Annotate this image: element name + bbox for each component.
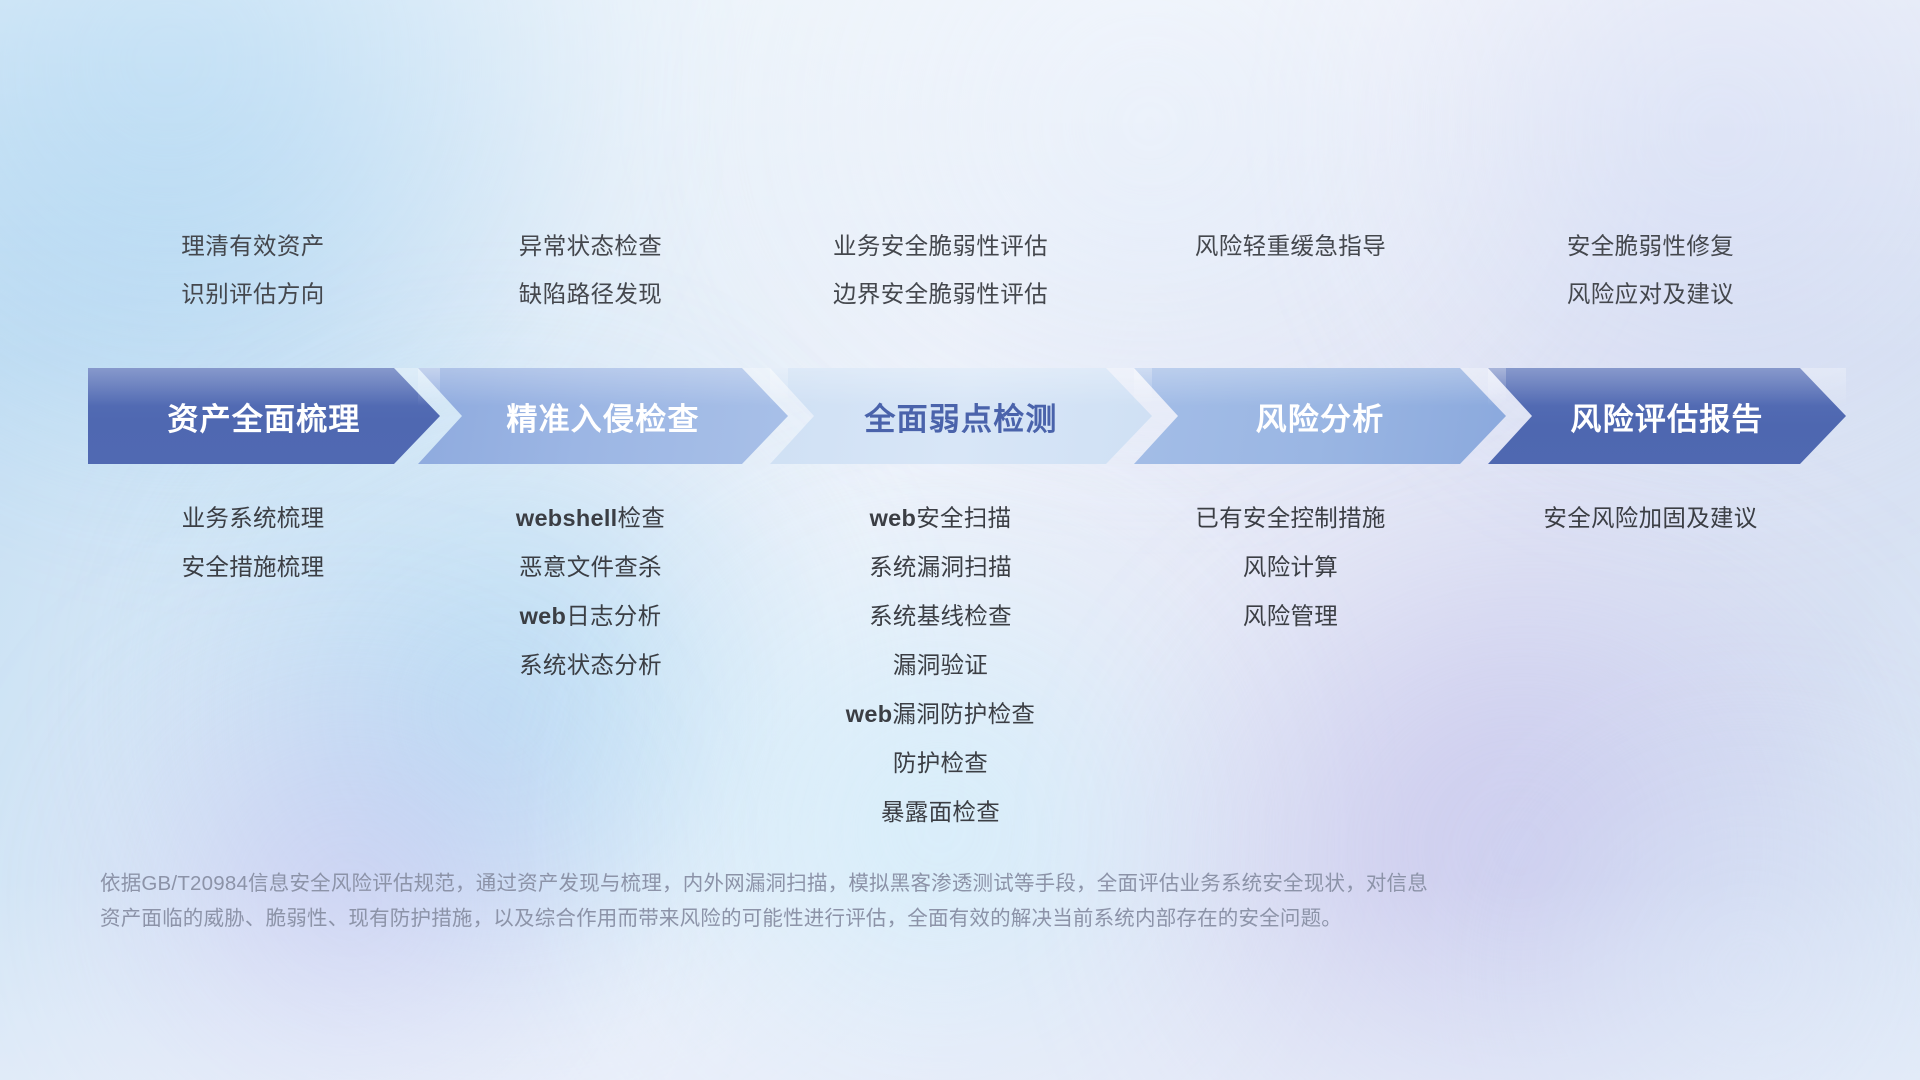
stage-1-below-item: 安全措施梳理 [182, 543, 325, 592]
stage-2-below-item: web日志分析 [520, 592, 662, 641]
stage-2-below-item: 恶意文件查杀 [519, 543, 662, 592]
stage-2-below-item: 系统状态分析 [519, 641, 662, 690]
stage-2-below-item: webshell检查 [516, 494, 665, 543]
stage-3-below-item: 防护检查 [893, 739, 988, 788]
stage-arrow-band: 资产全面梳理 精准入侵检查 全面弱点检测 风险分析 风险评估报告 [88, 368, 1846, 464]
stage-3-title: 全面弱点检测 [864, 394, 1057, 439]
stage-4-below-item: 已有安全控制措施 [1195, 494, 1385, 543]
stage-4-title: 风险分析 [1256, 394, 1385, 439]
stage-3-above-item: 边界安全脆弱性评估 [833, 270, 1048, 318]
stage-arrow-3[interactable]: 全面弱点检测 [770, 368, 1152, 464]
stage-1-above-item: 理清有效资产 [181, 222, 324, 270]
stage-3-below-item: 暴露面检查 [881, 788, 1000, 837]
latin-term: web [870, 505, 917, 531]
stage-arrow-1[interactable]: 资产全面梳理 [88, 368, 440, 464]
stage-5-above-list: 安全脆弱性修复 风险应对及建议 [1463, 222, 1838, 318]
stage-3-below-item: 漏洞验证 [893, 641, 988, 690]
stage-5-below-item: 安全风险加固及建议 [1543, 494, 1757, 543]
stage-5-above-item: 安全脆弱性修复 [1567, 222, 1734, 270]
stage-1-above-list: 理清有效资产 识别评估方向 [88, 222, 418, 318]
stage-3-above-list: 业务安全脆弱性评估 边界安全脆弱性评估 [763, 222, 1118, 318]
latin-term: web [520, 603, 567, 629]
latin-term: webshell [516, 505, 618, 531]
stage-5-title: 风险评估报告 [1570, 394, 1763, 439]
stage-1-below-item: 业务系统梳理 [182, 494, 325, 543]
stage-3-below-item: 系统漏洞扫描 [869, 543, 1012, 592]
stage-4-above-list: 风险轻重缓急指导 [1118, 222, 1463, 318]
stage-4-below-list: 已有安全控制措施 风险计算 风险管理 [1118, 494, 1463, 837]
stage-2-above-item: 缺陷路径发现 [519, 270, 662, 318]
stage-3-below-item: web安全扫描 [870, 494, 1012, 543]
stage-2-below-list: webshell检查 恶意文件查杀 web日志分析 系统状态分析 [418, 494, 763, 837]
stage-4-below-item: 风险计算 [1243, 543, 1338, 592]
stage-2-title: 精准入侵检查 [506, 394, 699, 439]
stage-3-below-list: web安全扫描 系统漏洞扫描 系统基线检查 漏洞验证 web漏洞防护检查 防护检… [763, 494, 1118, 837]
process-diagram: 理清有效资产 识别评估方向 异常状态检查 缺陷路径发现 业务安全脆弱性评估 边界… [0, 0, 1920, 1080]
description-paragraph: 依据GB/T20984信息安全风险评估规范，通过资产发现与梳理，内外网漏洞扫描，… [100, 866, 1620, 936]
stage-1-title: 资产全面梳理 [167, 394, 360, 439]
latin-term: web [846, 701, 893, 727]
stage-2-above-list: 异常状态检查 缺陷路径发现 [418, 222, 763, 318]
stage-inputs-row: 理清有效资产 识别评估方向 异常状态检查 缺陷路径发现 业务安全脆弱性评估 边界… [0, 222, 1920, 332]
description-line-1: 依据GB/T20984信息安全风险评估规范，通过资产发现与梳理，内外网漏洞扫描，… [100, 866, 1620, 901]
stage-arrow-2[interactable]: 精准入侵检查 [418, 368, 788, 464]
stage-5-below-list: 安全风险加固及建议 [1463, 494, 1838, 837]
stage-1-above-item: 识别评估方向 [181, 270, 324, 318]
stage-3-above-item: 业务安全脆弱性评估 [833, 222, 1048, 270]
description-line-2: 资产面临的威胁、脆弱性、现有防护措施，以及综合作用而带来风险的可能性进行评估，全… [100, 901, 1620, 936]
stage-1-below-list: 业务系统梳理 安全措施梳理 [88, 494, 418, 837]
stage-5-above-item: 风险应对及建议 [1567, 270, 1734, 318]
stage-arrow-5[interactable]: 风险评估报告 [1488, 368, 1846, 464]
stage-arrow-4[interactable]: 风险分析 [1134, 368, 1506, 464]
stage-4-below-item: 风险管理 [1243, 592, 1338, 641]
stage-4-above-item: 风险轻重缓急指导 [1195, 222, 1386, 270]
stage-3-below-item: 系统基线检查 [869, 592, 1012, 641]
stage-3-below-item: web漏洞防护检查 [846, 690, 1035, 739]
stage-2-above-item: 异常状态检查 [519, 222, 662, 270]
